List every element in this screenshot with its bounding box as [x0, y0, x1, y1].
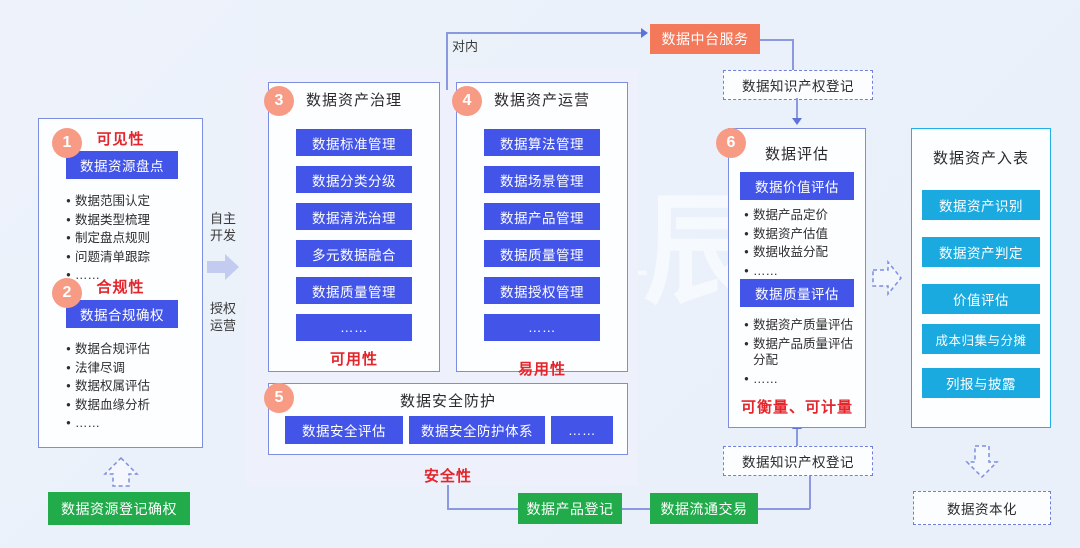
internal-line-horizontal — [446, 32, 642, 34]
sec-item-2[interactable]: …… — [551, 416, 613, 444]
bullet-dot-icon: • — [62, 212, 75, 229]
sec-item-1[interactable]: 数据安全防护体系 — [409, 416, 545, 444]
data-compliance-button[interactable]: 数据合规确权 — [66, 300, 178, 328]
product-to-trade-line — [622, 508, 650, 510]
gov-item-0[interactable]: 数据标准管理 — [296, 129, 412, 156]
security-to-product-line-v — [447, 485, 449, 509]
internal-label: 对内 — [452, 38, 492, 55]
licensed-line1: 授权 — [210, 301, 236, 316]
self-dev-line2: 开发 — [210, 228, 236, 243]
badge-5: 5 — [264, 383, 294, 413]
security-red-label: 安全性 — [268, 465, 628, 486]
op-item-4[interactable]: 数据授权管理 — [484, 277, 600, 304]
asset-table-title: 数据资产入表 — [911, 147, 1051, 168]
top-ip-registration-box[interactable]: 数据知识产权登记 — [723, 70, 873, 100]
asset-item-4[interactable]: 列报与披露 — [922, 368, 1040, 398]
bullet-dot-icon: • — [740, 263, 753, 280]
list-item: •数据资产质量评估 — [740, 317, 864, 334]
list-item: •法律尽调 — [62, 360, 192, 377]
bottom-ip-to-eval-line — [796, 428, 798, 446]
internal-arrow-icon — [641, 28, 648, 38]
list-item: •数据资产估值 — [740, 226, 862, 243]
op-item-5[interactable]: …… — [484, 314, 600, 341]
op-item-3[interactable]: 数据质量管理 — [484, 240, 600, 267]
bullet-dot-icon: • — [62, 397, 75, 414]
badge-4: 4 — [452, 86, 482, 116]
list-item: •…… — [740, 371, 864, 388]
bullet-dot-icon: • — [62, 360, 75, 377]
evaluation-red-label: 可衡量、可计量 — [722, 396, 872, 417]
gov-item-4[interactable]: 数据质量管理 — [296, 277, 412, 304]
bullet-dot-icon: • — [740, 371, 753, 388]
badge-6: 6 — [716, 128, 746, 158]
list-item: •数据产品质量评估分配 — [740, 336, 864, 369]
ip-to-eval-line — [796, 98, 798, 120]
operation-red-label: 易用性 — [456, 358, 628, 379]
trade-to-ip-line-v — [809, 474, 811, 509]
asset-item-3[interactable]: 成本归集与分摊 — [922, 324, 1040, 354]
licensed-line2: 运营 — [210, 318, 236, 333]
list-item: •数据范围认定 — [62, 193, 192, 210]
evaluation-value-bullets: •数据产品定价 •数据资产估值 •数据收益分配 •…… — [740, 207, 862, 281]
gov-item-1[interactable]: 数据分类分级 — [296, 166, 412, 193]
badge-3: 3 — [264, 86, 294, 116]
asset-item-2[interactable]: 价值评估 — [922, 284, 1040, 314]
gov-item-5[interactable]: …… — [296, 314, 412, 341]
evaluation-quality-bullets: •数据资产质量评估 •数据产品质量评估分配 •…… — [740, 317, 864, 389]
gov-item-2[interactable]: 数据清洗治理 — [296, 203, 412, 230]
op-item-1[interactable]: 数据场景管理 — [484, 166, 600, 193]
left-bullets-2: •数据合规评估 •法律尽调 •数据权属评估 •数据血缘分析 •…… — [62, 341, 192, 434]
list-item: •数据合规评估 — [62, 341, 192, 358]
left-up-arrow-icon — [100, 455, 142, 489]
licensed-operation-label: 授权 运营 — [203, 300, 243, 334]
bullet-dot-icon: • — [62, 193, 75, 210]
data-capitalization-box[interactable]: 数据资本化 — [913, 491, 1051, 525]
self-dev-line1: 自主 — [210, 211, 236, 226]
governance-red-label: 可用性 — [268, 348, 440, 369]
data-resource-inventory-button[interactable]: 数据资源盘点 — [66, 151, 178, 179]
data-product-registration-box[interactable]: 数据产品登记 — [518, 493, 622, 524]
mid-platform-service-box[interactable]: 数据中台服务 — [650, 24, 760, 54]
gov-item-3[interactable]: 多元数据融合 — [296, 240, 412, 267]
bullet-dot-icon: • — [740, 207, 753, 224]
list-item: •数据类型梳理 — [62, 212, 192, 229]
sec-item-0[interactable]: 数据安全评估 — [285, 416, 403, 444]
evaluation-title: 数据评估 — [728, 143, 866, 164]
data-resource-registration-box[interactable]: 数据资源登记确权 — [48, 492, 190, 525]
bullet-dot-icon: • — [62, 230, 75, 247]
bottom-ip-registration-box[interactable]: 数据知识产权登记 — [723, 446, 873, 476]
list-item: •数据产品定价 — [740, 207, 862, 224]
left-bullets-1: •数据范围认定 •数据类型梳理 •制定盘点规则 •问题清单跟踪 •…… — [62, 193, 192, 286]
list-item: •…… — [62, 415, 192, 432]
asset-item-1[interactable]: 数据资产判定 — [922, 237, 1040, 267]
orange-to-ip-line-h — [760, 39, 793, 41]
security-title: 数据安全防护 — [268, 390, 628, 411]
eval-to-table-arrow-icon — [870, 258, 904, 298]
list-item: •制定盘点规则 — [62, 230, 192, 247]
bullet-dot-icon: • — [740, 226, 753, 243]
list-item: •数据权属评估 — [62, 378, 192, 395]
bullet-dot-icon: • — [62, 341, 75, 358]
bullet-dot-icon: • — [62, 378, 75, 395]
internal-line-vertical — [446, 32, 448, 90]
op-item-2[interactable]: 数据产品管理 — [484, 203, 600, 230]
badge-1: 1 — [52, 128, 82, 158]
data-value-evaluation-button[interactable]: 数据价值评估 — [740, 172, 854, 200]
bullet-dot-icon: • — [62, 249, 75, 266]
security-to-product-line-h — [447, 508, 524, 510]
orange-to-ip-line-v — [792, 39, 794, 71]
asset-item-0[interactable]: 数据资产识别 — [922, 190, 1040, 220]
data-circulation-trade-box[interactable]: 数据流通交易 — [650, 493, 758, 524]
bullet-dot-icon: • — [740, 244, 753, 261]
self-development-label: 自主 开发 — [203, 210, 243, 244]
trade-to-ip-line-h — [758, 508, 810, 510]
list-item: •数据收益分配 — [740, 244, 862, 261]
badge-2: 2 — [52, 278, 82, 308]
center-right-arrow-icon — [205, 252, 241, 282]
bullet-dot-icon: • — [740, 317, 753, 334]
bullet-dot-icon: • — [740, 336, 753, 353]
bullet-dot-icon: • — [62, 415, 75, 432]
op-item-0[interactable]: 数据算法管理 — [484, 129, 600, 156]
list-item: •问题清单跟踪 — [62, 249, 192, 266]
data-quality-evaluation-button[interactable]: 数据质量评估 — [740, 279, 854, 307]
list-item: •…… — [740, 263, 862, 280]
table-to-capitalization-arrow-icon — [962, 444, 1002, 480]
ip-to-eval-arrow-icon — [792, 118, 802, 125]
list-item: •数据血缘分析 — [62, 397, 192, 414]
